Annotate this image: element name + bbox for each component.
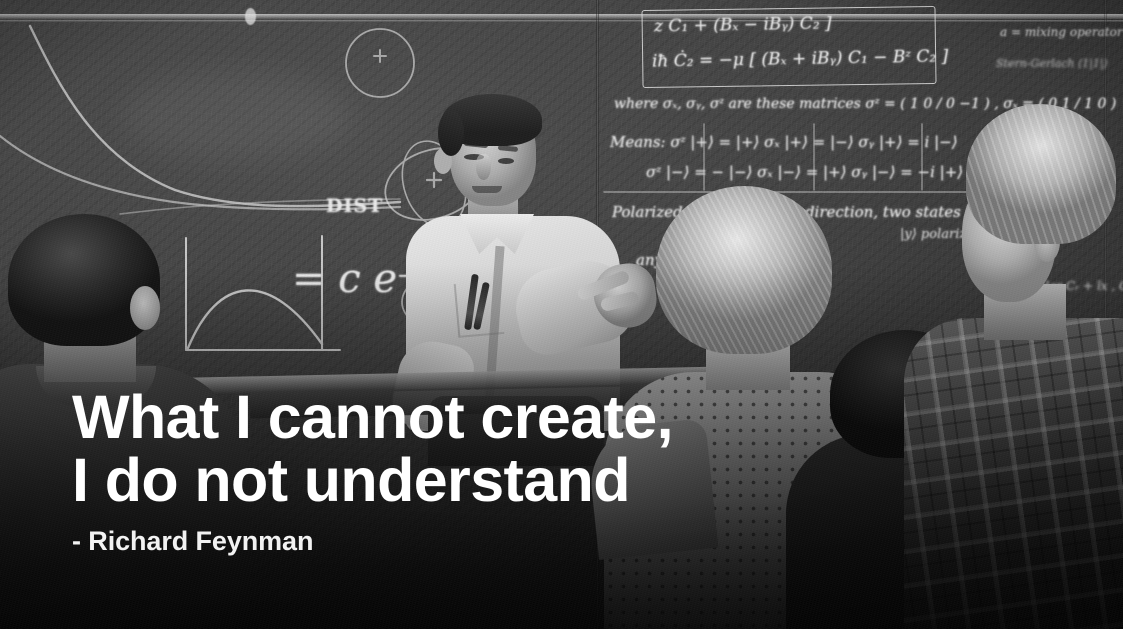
lecturer-mouth <box>472 186 502 193</box>
student-far-right-hair <box>966 104 1116 244</box>
quote-attribution: - Richard Feynman <box>72 526 673 557</box>
student-far-right <box>938 104 1123 629</box>
equation-line-1: z C₁ + (Bₓ − iBᵧ) C₂ ] <box>654 14 832 37</box>
student-far-right-body <box>904 318 1123 629</box>
quote-line-1: What I cannot create, <box>72 386 673 449</box>
chalk-boltzmann-prefix: = c e <box>292 256 397 302</box>
lecturer-eye <box>498 158 514 164</box>
lecturer-nose <box>476 154 491 180</box>
quote-line-2: I do not understand <box>72 449 673 512</box>
sketch-atom-orbital-upper-right <box>320 18 440 108</box>
student-center-hair <box>656 186 832 354</box>
feynman-quote-poster: DIST = c e−Eᵢ / kT z C₁ + (Bₓ − iBᵧ) C₂ … <box>0 0 1123 629</box>
quote-caption: What I cannot create, I do not understan… <box>72 386 673 557</box>
student-left-ear <box>130 286 160 330</box>
plaid-shirt-pattern <box>904 318 1123 629</box>
chalk-note-stern-gerlach: Stern-Gerlach ⟨1|1|⟩ <box>996 58 1108 71</box>
chalk-label-dist: DIST <box>326 196 383 218</box>
chalk-note-mixing-operator: a = mixing operator H = −μ (σ·B) <box>1000 26 1123 40</box>
lecturer-hair <box>442 94 542 146</box>
